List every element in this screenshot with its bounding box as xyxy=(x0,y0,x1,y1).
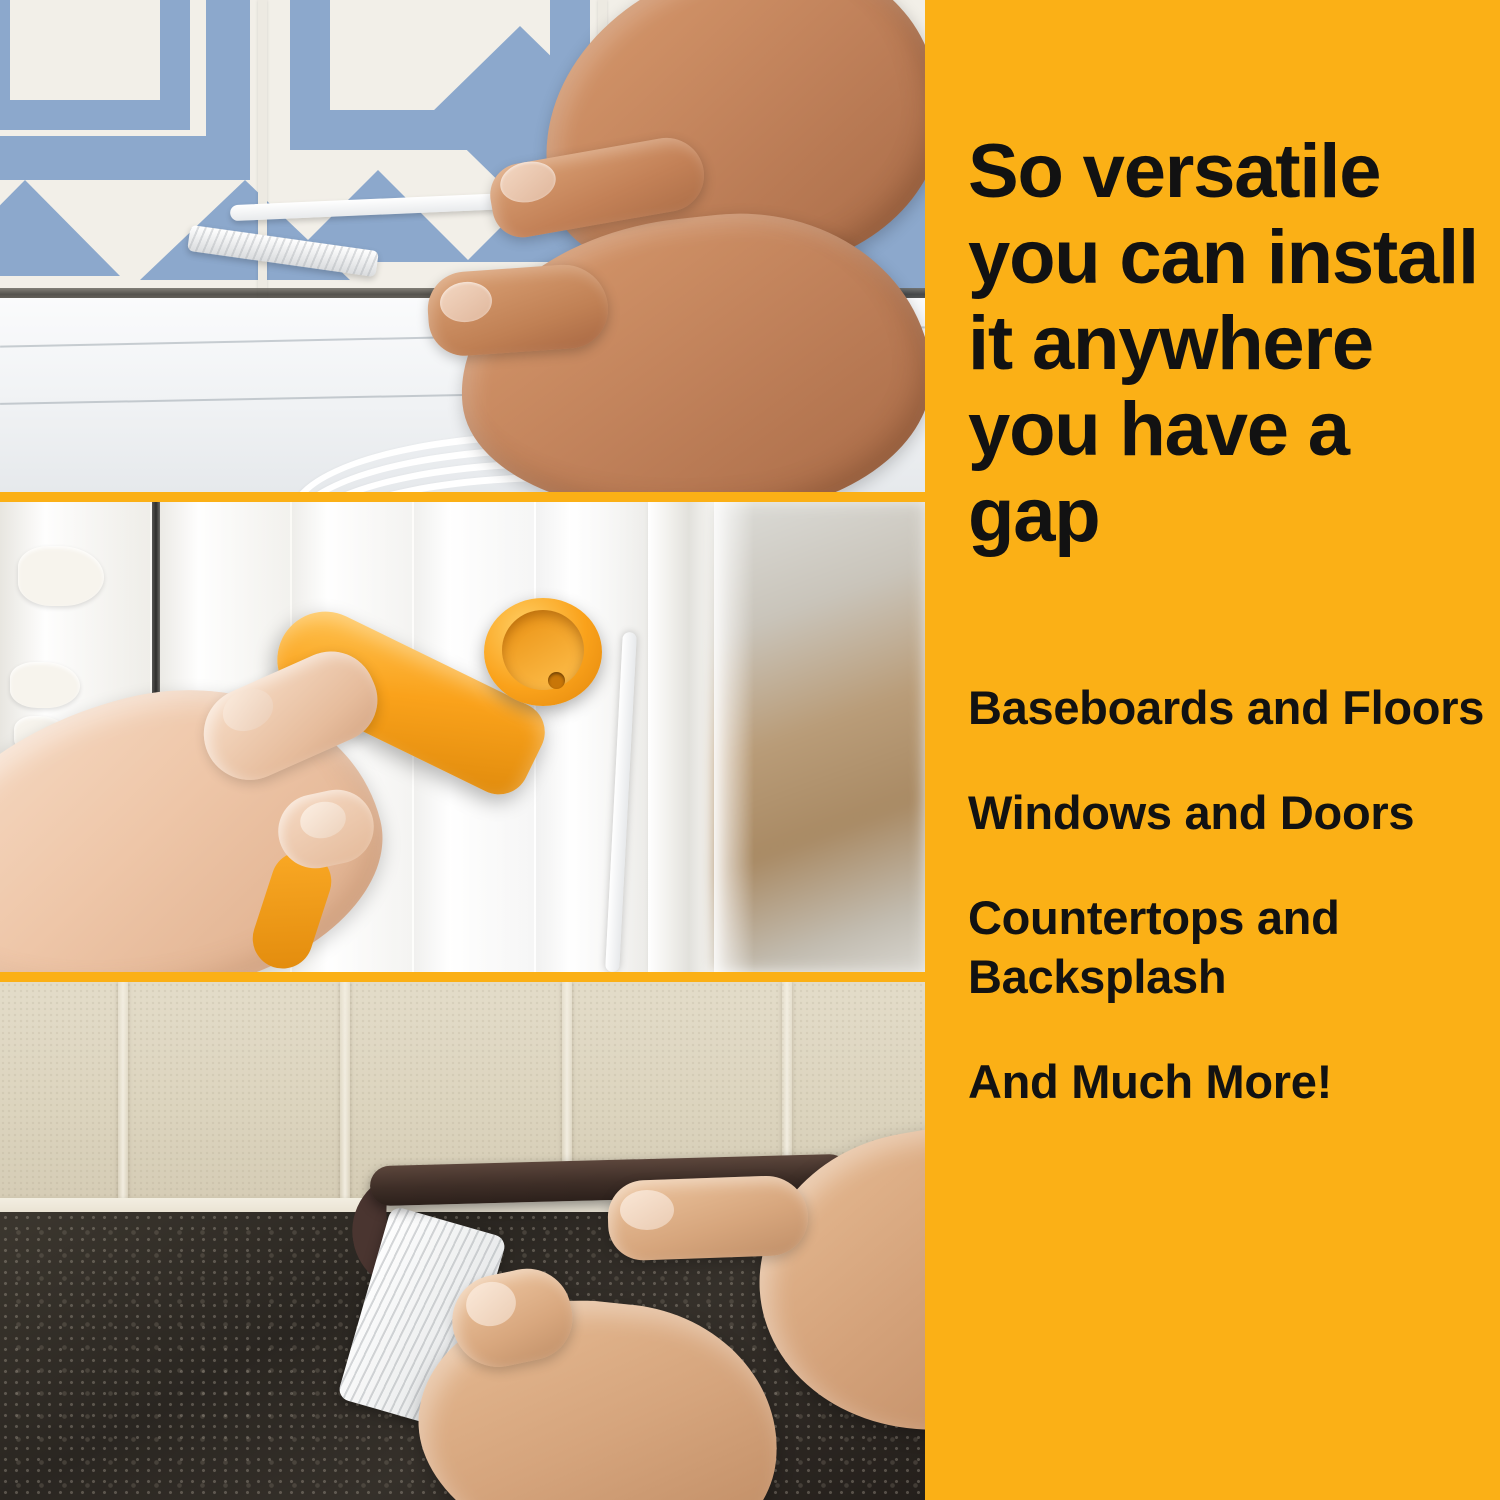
benefit-item-countertops: Countertops and Backsplash xyxy=(968,888,1488,1006)
photo-tile-backsplash xyxy=(0,0,925,492)
door-jamb xyxy=(648,502,714,972)
fingernail-right xyxy=(620,1190,674,1230)
photo-divider-2 xyxy=(0,972,925,982)
paint-drip xyxy=(18,546,104,606)
product-feature-poster: So versatile you can install it anywhere… xyxy=(0,0,1500,1500)
applicator-hole xyxy=(548,672,565,689)
benefit-item-windows: Windows and Doors xyxy=(968,783,1488,842)
headline: So versatile you can install it anywhere… xyxy=(968,129,1488,559)
glass-highlight xyxy=(714,502,754,972)
text-panel: So versatile you can install it anywhere… xyxy=(925,0,1500,1500)
photo-divider-1 xyxy=(0,492,925,502)
benefit-item-more: And Much More! xyxy=(968,1052,1488,1111)
photo-window-frame-tool xyxy=(0,502,925,972)
applicator-ring xyxy=(502,610,584,690)
benefit-list: Baseboards and Floors Windows and Doors … xyxy=(968,678,1488,1111)
photo-countertop-backsplash xyxy=(0,982,925,1500)
paint-drip xyxy=(10,662,80,708)
photo-column xyxy=(0,0,925,1500)
benefit-item-baseboards: Baseboards and Floors xyxy=(968,678,1488,737)
